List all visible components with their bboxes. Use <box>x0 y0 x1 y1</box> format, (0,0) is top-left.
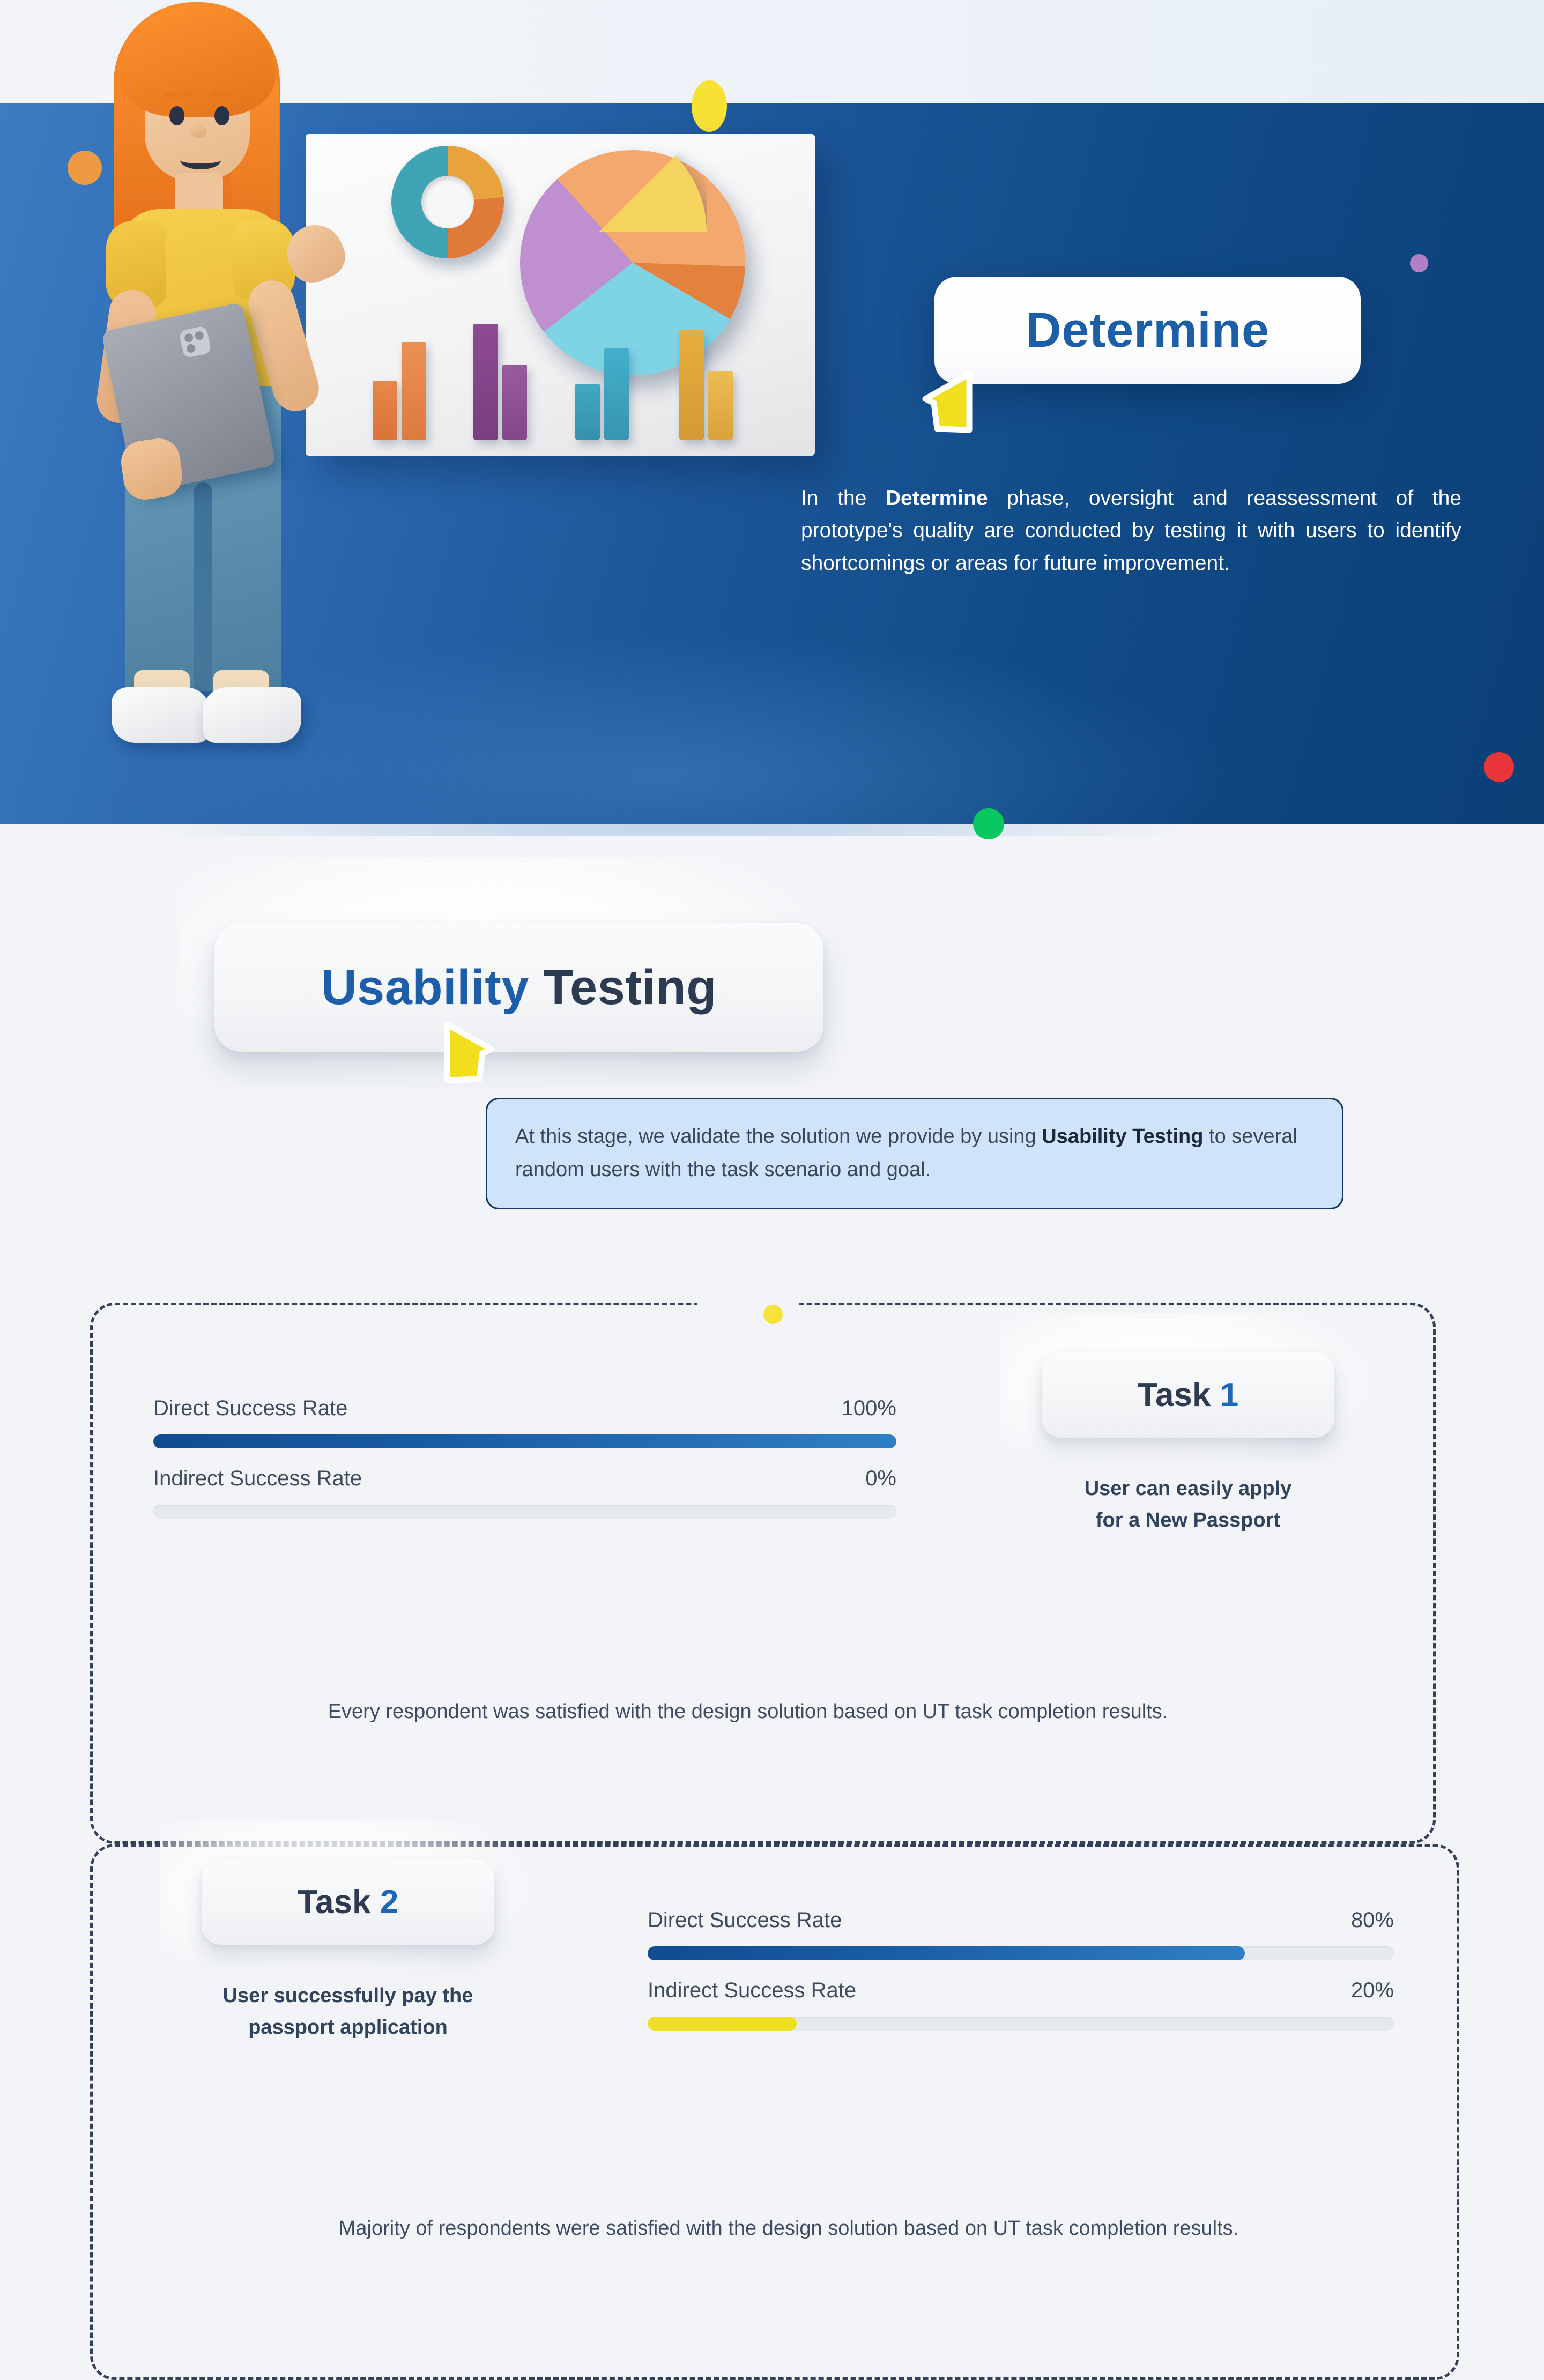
page-title: Determine <box>1026 302 1269 359</box>
bar <box>575 384 600 440</box>
progress-fill <box>153 1434 896 1448</box>
task-1-conclusion: Every respondent was satisfied with the … <box>247 1696 1249 1728</box>
purple-dot <box>1410 254 1428 272</box>
metric-label: Direct Success Rate <box>648 1908 842 1932</box>
metric-label: Direct Success Rate <box>153 1396 347 1420</box>
metric-header: Direct Success Rate 100% <box>153 1396 896 1420</box>
bar-chart-icon <box>373 316 780 440</box>
metric-row: Indirect Success Rate 20% <box>648 1979 1394 2031</box>
task-description-line: passport application <box>202 2012 494 2043</box>
metric-value: 0% <box>865 1467 896 1491</box>
task-description-line: User successfully pay the <box>202 1980 494 2012</box>
metric-row: Indirect Success Rate 0% <box>153 1467 896 1519</box>
task-2-conclusion: Majority of respondents were satisfied w… <box>287 2213 1290 2244</box>
progress-track <box>648 2017 1394 2031</box>
donut-chart-icon <box>391 146 504 258</box>
hero-illustration <box>70 0 783 783</box>
task-badge-label: Task <box>298 1884 380 1921</box>
progress-track <box>648 1946 1394 1960</box>
metric-value: 80% <box>1351 1908 1394 1932</box>
cursor-arrow-right-icon <box>440 1021 498 1084</box>
progress-track <box>153 1434 896 1448</box>
progress-fill <box>648 1946 1245 1960</box>
bar <box>679 330 704 440</box>
shoe-left <box>112 687 210 743</box>
bar <box>473 324 498 440</box>
task-1-border-gap <box>697 1299 799 1309</box>
hero-paragraph-bold: Determine <box>886 487 988 510</box>
determine-title-pill: Determine <box>934 277 1361 384</box>
task-1-metrics: Direct Success Rate 100% Indirect Succes… <box>153 1396 896 1537</box>
task-description-line: User can easily apply <box>1042 1473 1334 1505</box>
yellow-dot <box>763 1305 783 1324</box>
bar <box>402 342 426 440</box>
bar <box>502 365 527 440</box>
metric-row: Direct Success Rate 100% <box>153 1396 896 1448</box>
task-2-metrics: Direct Success Rate 80% Indirect Success… <box>648 1908 1394 2049</box>
usability-callout-text: At this stage, we validate the solution … <box>515 1120 1314 1186</box>
metric-row: Direct Success Rate 80% <box>648 1908 1394 1960</box>
metric-value: 100% <box>842 1396 896 1420</box>
hero-paragraph: In the Determine phase, oversight and re… <box>801 482 1461 579</box>
bar <box>373 381 397 440</box>
metric-value: 20% <box>1351 1979 1394 2003</box>
task-badge-number: 1 <box>1220 1377 1238 1414</box>
eye-left <box>169 106 184 125</box>
task-2-badge: Task 2 <box>202 1859 494 1945</box>
callout-prefix: At this stage, we validate the solution … <box>515 1125 1042 1148</box>
task-1-card: Task 1 User can easily apply for a New P… <box>1042 1352 1334 1536</box>
task-badge-text: Task 1 <box>1138 1376 1238 1414</box>
task-description-line: for a New Passport <box>1042 1505 1334 1536</box>
hero-paragraph-prefix: In the <box>801 487 886 510</box>
metric-label: Indirect Success Rate <box>153 1467 362 1491</box>
task-badge-text: Task 2 <box>298 1883 398 1921</box>
task-1-badge: Task 1 <box>1042 1352 1334 1438</box>
metric-header: Indirect Success Rate 20% <box>648 1979 1394 2003</box>
task-badge-number: 2 <box>380 1884 398 1921</box>
progress-track <box>153 1505 896 1519</box>
nose <box>191 124 207 138</box>
task-2-description: User successfully pay the passport appli… <box>202 1980 494 2043</box>
task-badge-label: Task <box>1138 1377 1220 1414</box>
metric-label: Indirect Success Rate <box>648 1979 856 2003</box>
section-title-dark: Testing <box>529 960 717 1015</box>
metric-header: Direct Success Rate 80% <box>648 1908 1394 1932</box>
progress-fill <box>648 2017 797 2031</box>
metric-header: Indirect Success Rate 0% <box>153 1467 896 1491</box>
section-title: Usability Testing <box>321 960 717 1016</box>
usability-callout-box: At this stage, we validate the solution … <box>486 1098 1343 1209</box>
eye-right <box>214 106 229 125</box>
leg-separation <box>194 482 212 697</box>
shoe-right <box>203 687 301 743</box>
task-1-description: User can easily apply for a New Passport <box>1042 1473 1334 1536</box>
cursor-arrow-left-icon <box>918 370 977 434</box>
green-dot <box>973 808 1004 839</box>
red-dot <box>1484 752 1514 782</box>
section-title-blue: Usability <box>321 960 529 1015</box>
mouth <box>180 151 221 169</box>
callout-bold: Usability Testing <box>1042 1125 1203 1148</box>
task-2-card: Task 2 User successfully pay the passpor… <box>202 1859 494 2043</box>
presenter-character <box>70 0 327 783</box>
hero-section: Determine In the Determine phase, oversi… <box>0 0 1544 836</box>
bar <box>604 348 629 440</box>
bar <box>708 371 733 440</box>
usability-title-pill: Usability Testing <box>214 923 823 1052</box>
